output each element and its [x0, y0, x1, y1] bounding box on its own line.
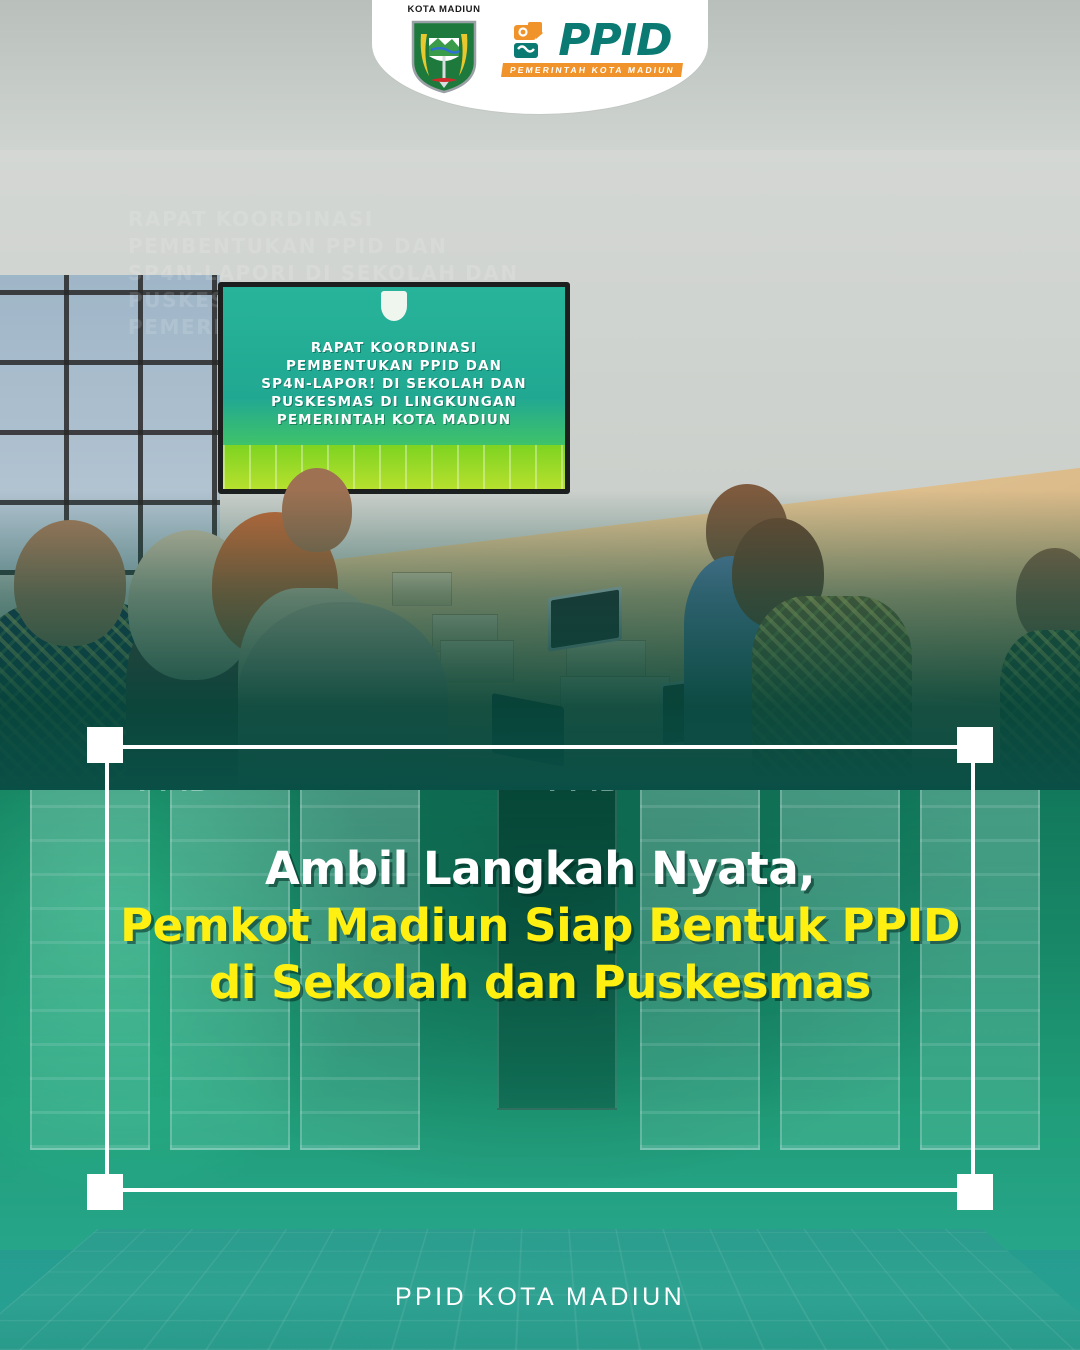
headline-line-3: di Sekolah dan Puskesmas: [105, 954, 975, 1011]
poster-canvas: PPID PPID RAPAT KOORDINASI PEMBENTUKAN P…: [0, 0, 1080, 1350]
footer-label: PPID KOTA MADIUN: [0, 1283, 1080, 1312]
screen-line: PEMBENTUKAN PPID DAN: [223, 357, 565, 375]
ppid-logo: PPID PEMERINTAH KOTA MADIUN: [502, 21, 682, 77]
presentation-screen: RAPAT KOORDINASI PEMBENTUKAN PPID DAN SP…: [218, 282, 570, 494]
frame-corner-bottom-left: [87, 1174, 123, 1210]
ghost-line: PEMBENTUKAN PPID DAN: [128, 233, 568, 260]
ppid-tagline: PEMERINTAH KOTA MADIUN: [501, 63, 683, 77]
ghost-line: RAPAT KOORDINASI: [128, 206, 568, 233]
screen-line: RAPAT KOORDINASI: [223, 339, 565, 357]
screen-line: PUSKESMAS DI LINGKUNGAN: [223, 393, 565, 411]
frame-corner-bottom-right: [957, 1174, 993, 1210]
kota-madiun-crest-icon: [407, 16, 481, 94]
ppid-wordmark: PPID: [558, 21, 671, 61]
meeting-photo: RAPAT KOORDINASI PEMBENTUKAN PPID DAN SP…: [0, 0, 1080, 790]
screen-line: SP4N-LAPOR! DI SEKOLAH DAN: [223, 375, 565, 393]
headline-line-1: Ambil Langkah Nyata,: [105, 840, 975, 897]
screen-crest-icon: [381, 291, 407, 321]
crest-block: KOTA MADIUN: [398, 4, 490, 94]
screen-line: PEMERINTAH KOTA MADIUN: [223, 411, 565, 429]
frame-corner-top-left: [87, 727, 123, 763]
crest-label: KOTA MADIUN: [407, 4, 480, 15]
frame-corner-top-right: [957, 727, 993, 763]
headline: Ambil Langkah Nyata, Pemkot Madiun Siap …: [105, 840, 975, 1011]
ppid-document-icon: [512, 21, 556, 61]
screen-text: RAPAT KOORDINASI PEMBENTUKAN PPID DAN SP…: [223, 339, 565, 429]
headline-line-2: Pemkot Madiun Siap Bentuk PPID: [105, 897, 975, 954]
screen-graphic-floor: [223, 445, 565, 489]
